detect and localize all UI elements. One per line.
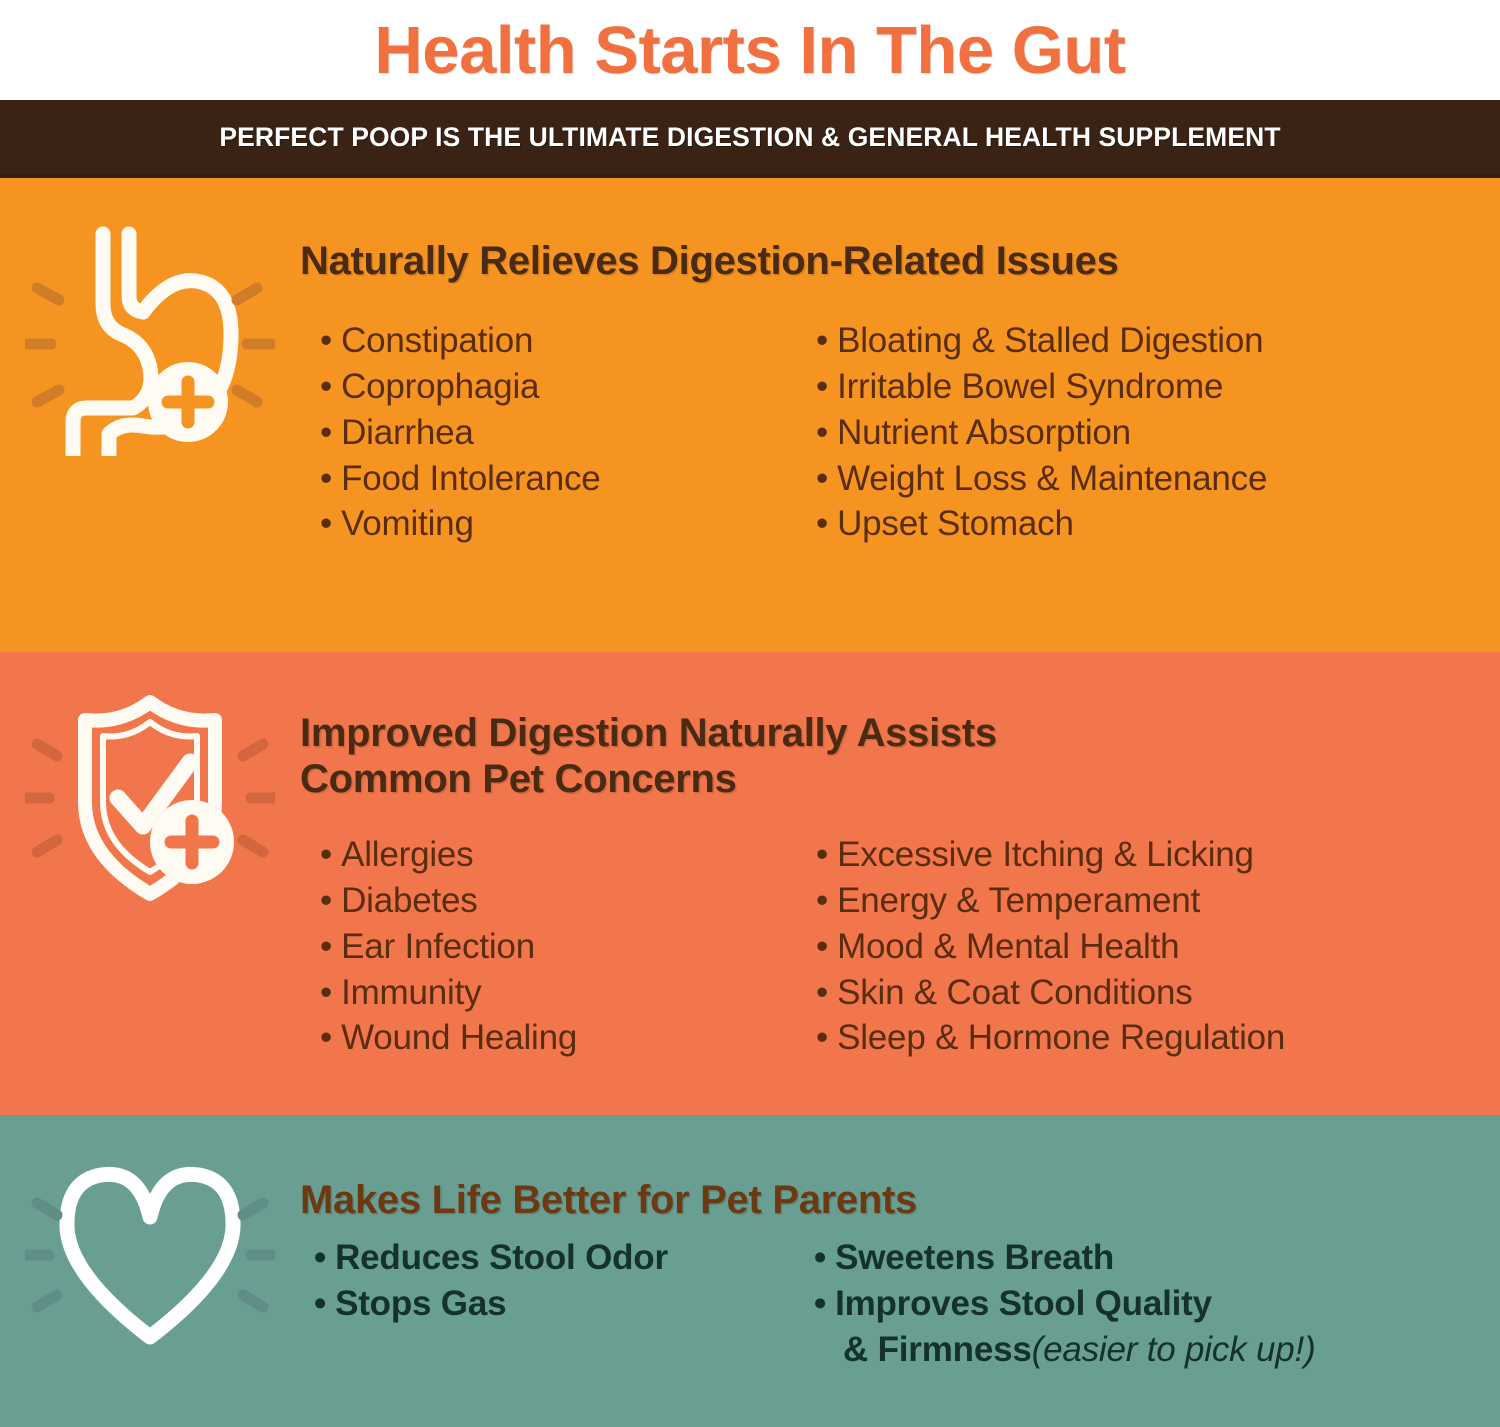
bullet-dot: • xyxy=(816,927,828,966)
list-item: •Allergies xyxy=(320,832,800,878)
bullet-dot: • xyxy=(320,321,332,360)
section-pet-concerns: Improved Digestion Naturally Assists Com… xyxy=(0,652,1500,1115)
bullet-dot: • xyxy=(816,973,828,1012)
list-item: •Immunity xyxy=(320,970,800,1016)
digestion-bullets-right: •Bloating & Stalled Digestion •Irritable… xyxy=(800,318,1400,547)
bullet-dot: • xyxy=(320,1018,332,1057)
digestion-heading: Naturally Relieves Digestion-Related Iss… xyxy=(300,238,1460,284)
bullet-dot: • xyxy=(816,367,828,406)
list-item: •Diabetes xyxy=(320,878,800,924)
list-item: •Reduces Stool Odor xyxy=(314,1235,800,1281)
list-item-label: Wound Healing xyxy=(341,1018,577,1057)
bullet-dot: • xyxy=(320,927,332,966)
bullet-dot: • xyxy=(320,973,332,1012)
list-item: •Bloating & Stalled Digestion xyxy=(816,318,1400,364)
list-item: •Nutrient Absorption xyxy=(816,410,1400,456)
list-item-label: Sleep & Hormone Regulation xyxy=(837,1018,1285,1057)
section-digestion: Naturally Relieves Digestion-Related Iss… xyxy=(0,178,1500,652)
list-item-label: Coprophagia xyxy=(341,367,539,406)
list-item-label: Diabetes xyxy=(341,881,478,920)
list-item: •Vomiting xyxy=(320,501,800,547)
list-item: •Sleep & Hormone Regulation xyxy=(816,1015,1400,1061)
list-item: •Weight Loss & Maintenance xyxy=(816,456,1400,502)
list-item-label: Immunity xyxy=(341,973,481,1012)
infographic-page: Health Starts In The Gut PERFECT POOP IS… xyxy=(0,0,1500,1427)
heart-icon xyxy=(25,1155,275,1427)
shield-icon-column xyxy=(0,652,300,1115)
list-item: •Ear Infection xyxy=(320,924,800,970)
stomach-plus-icon xyxy=(25,226,275,652)
list-item-continuation: & Firmness(easier to pick up!) xyxy=(814,1327,1400,1373)
page-title: Health Starts In The Gut xyxy=(374,17,1125,84)
list-item: •Irritable Bowel Syndrome xyxy=(816,364,1400,410)
bullet-dot: • xyxy=(320,367,332,406)
shield-check-plus-icon xyxy=(25,694,275,1115)
pet-parents-bullets-right: •Sweetens Breath •Improves Stool Quality… xyxy=(800,1235,1400,1373)
list-item-label: Excessive Itching & Licking xyxy=(837,835,1254,874)
bullet-dot: • xyxy=(816,321,828,360)
list-item-label: Bloating & Stalled Digestion xyxy=(837,321,1263,360)
pet-concerns-bullet-columns: •Allergies •Diabetes •Ear Infection •Imm… xyxy=(300,832,1460,1061)
list-item: •Sweetens Breath xyxy=(814,1235,1400,1281)
bullet-dot: • xyxy=(816,504,828,543)
pet-concerns-heading-line1: Improved Digestion Naturally Assists xyxy=(300,710,1460,756)
bullet-dot: • xyxy=(816,835,828,874)
bullet-dot: • xyxy=(320,504,332,543)
bullet-dot: • xyxy=(816,881,828,920)
firmness-note: (easier to pick up!) xyxy=(1032,1330,1316,1369)
title-bar: Health Starts In The Gut xyxy=(0,0,1500,100)
list-item-label: Constipation xyxy=(341,321,533,360)
bullet-dot: • xyxy=(314,1284,326,1323)
section-pet-parents: Makes Life Better for Pet Parents •Reduc… xyxy=(0,1115,1500,1427)
digestion-bullets-left: •Constipation •Coprophagia •Diarrhea •Fo… xyxy=(300,318,800,547)
list-item-label: Vomiting xyxy=(341,504,474,543)
pet-concerns-content: Improved Digestion Naturally Assists Com… xyxy=(300,652,1500,1115)
heart-icon-column xyxy=(0,1115,300,1427)
pet-parents-bullet-columns: •Reduces Stool Odor •Stops Gas •Sweetens… xyxy=(300,1235,1460,1373)
list-item-label: Nutrient Absorption xyxy=(837,413,1131,452)
list-item: •Diarrhea xyxy=(320,410,800,456)
digestion-content: Naturally Relieves Digestion-Related Iss… xyxy=(300,178,1500,652)
list-item-label: Weight Loss & Maintenance xyxy=(837,459,1267,498)
list-item-label: Irritable Bowel Syndrome xyxy=(837,367,1223,406)
list-item-label: Upset Stomach xyxy=(837,504,1074,543)
stomach-icon-column xyxy=(0,178,300,652)
list-item: •Coprophagia xyxy=(320,364,800,410)
pet-parents-bullets-left: •Reduces Stool Odor •Stops Gas xyxy=(300,1235,800,1373)
bullet-dot: • xyxy=(814,1238,826,1277)
pet-concerns-bullets-right: •Excessive Itching & Licking •Energy & T… xyxy=(800,832,1400,1061)
banner-text: PERFECT POOP IS THE ULTIMATE DIGESTION &… xyxy=(219,122,1280,153)
list-item: •Mood & Mental Health xyxy=(816,924,1400,970)
list-item-label: Energy & Temperament xyxy=(837,881,1200,920)
bullet-dot: • xyxy=(320,459,332,498)
list-item-label: Food Intolerance xyxy=(341,459,600,498)
pet-concerns-heading-line2: Common Pet Concerns xyxy=(300,756,1460,802)
list-item-label: Skin & Coat Conditions xyxy=(837,973,1193,1012)
list-item: •Constipation xyxy=(320,318,800,364)
bullet-dot: • xyxy=(814,1284,826,1323)
list-item: •Skin & Coat Conditions xyxy=(816,970,1400,1016)
list-item-label: Diarrhea xyxy=(341,413,474,452)
digestion-bullet-columns: •Constipation •Coprophagia •Diarrhea •Fo… xyxy=(300,318,1460,547)
list-item-label: Mood & Mental Health xyxy=(837,927,1179,966)
pet-concerns-heading: Improved Digestion Naturally Assists Com… xyxy=(300,710,1460,802)
list-item-label: Improves Stool Quality xyxy=(835,1284,1212,1323)
list-item-label: Stops Gas xyxy=(335,1284,506,1323)
pet-parents-content: Makes Life Better for Pet Parents •Reduc… xyxy=(300,1115,1500,1427)
list-item: •Upset Stomach xyxy=(816,501,1400,547)
bullet-dot: • xyxy=(320,413,332,452)
list-item: •Excessive Itching & Licking xyxy=(816,832,1400,878)
subtitle-banner: PERFECT POOP IS THE ULTIMATE DIGESTION &… xyxy=(0,100,1500,178)
bullet-dot: • xyxy=(320,881,332,920)
list-item-label: Sweetens Breath xyxy=(835,1238,1114,1277)
pet-concerns-bullets-left: •Allergies •Diabetes •Ear Infection •Imm… xyxy=(300,832,800,1061)
bullet-dot: • xyxy=(816,1018,828,1057)
bullet-dot: • xyxy=(816,413,828,452)
list-item: •Stops Gas xyxy=(314,1281,800,1327)
pet-parents-heading: Makes Life Better for Pet Parents xyxy=(300,1177,1460,1223)
list-item: •Energy & Temperament xyxy=(816,878,1400,924)
bullet-dot: • xyxy=(314,1238,326,1277)
list-item-label: Ear Infection xyxy=(341,927,535,966)
list-item-label: Allergies xyxy=(341,835,473,874)
bullet-dot: • xyxy=(320,835,332,874)
list-item-label: Reduces Stool Odor xyxy=(335,1238,668,1277)
list-item: •Improves Stool Quality xyxy=(814,1281,1400,1327)
firmness-label: & Firmness xyxy=(843,1330,1032,1369)
bullet-dot: • xyxy=(816,459,828,498)
list-item: •Food Intolerance xyxy=(320,456,800,502)
list-item: •Wound Healing xyxy=(320,1015,800,1061)
